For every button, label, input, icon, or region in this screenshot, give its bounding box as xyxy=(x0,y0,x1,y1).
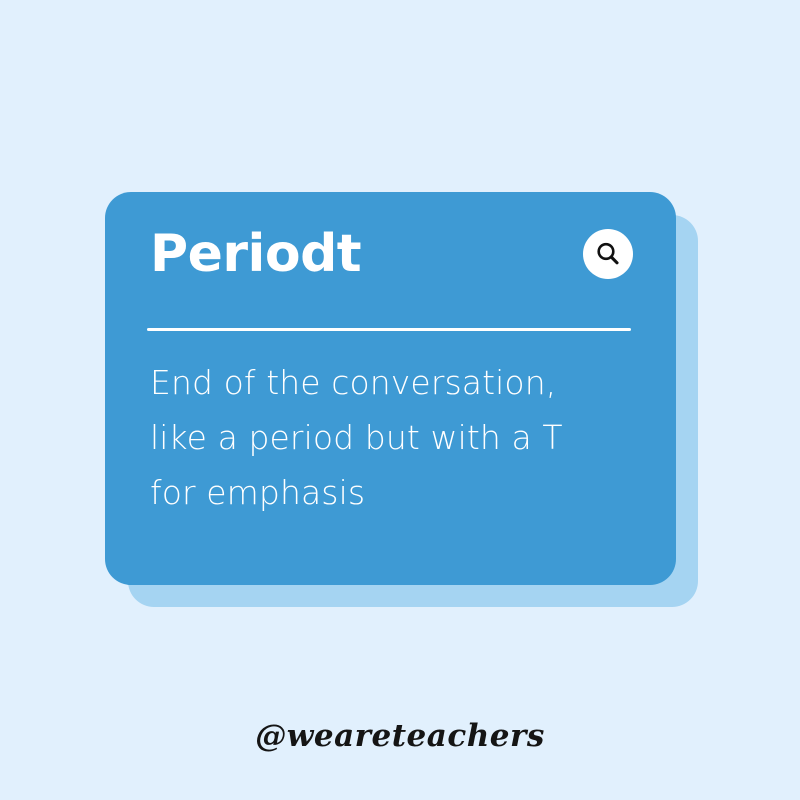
poster-canvas: Periodt End of the conversation, like a … xyxy=(0,0,800,800)
definition-card: Periodt End of the conversation, like a … xyxy=(105,192,676,585)
title-divider xyxy=(147,328,631,331)
definition-line: for emphasis xyxy=(150,465,620,520)
social-handle: @weareteachers xyxy=(0,718,800,754)
definition-text: End of the conversation, like a period b… xyxy=(150,355,620,520)
search-button[interactable] xyxy=(583,229,633,279)
definition-line: End of the conversation, xyxy=(150,355,620,410)
definition-line: like a period but with a T xyxy=(150,410,620,465)
page-title: Periodt xyxy=(150,225,361,285)
search-icon xyxy=(595,241,621,267)
